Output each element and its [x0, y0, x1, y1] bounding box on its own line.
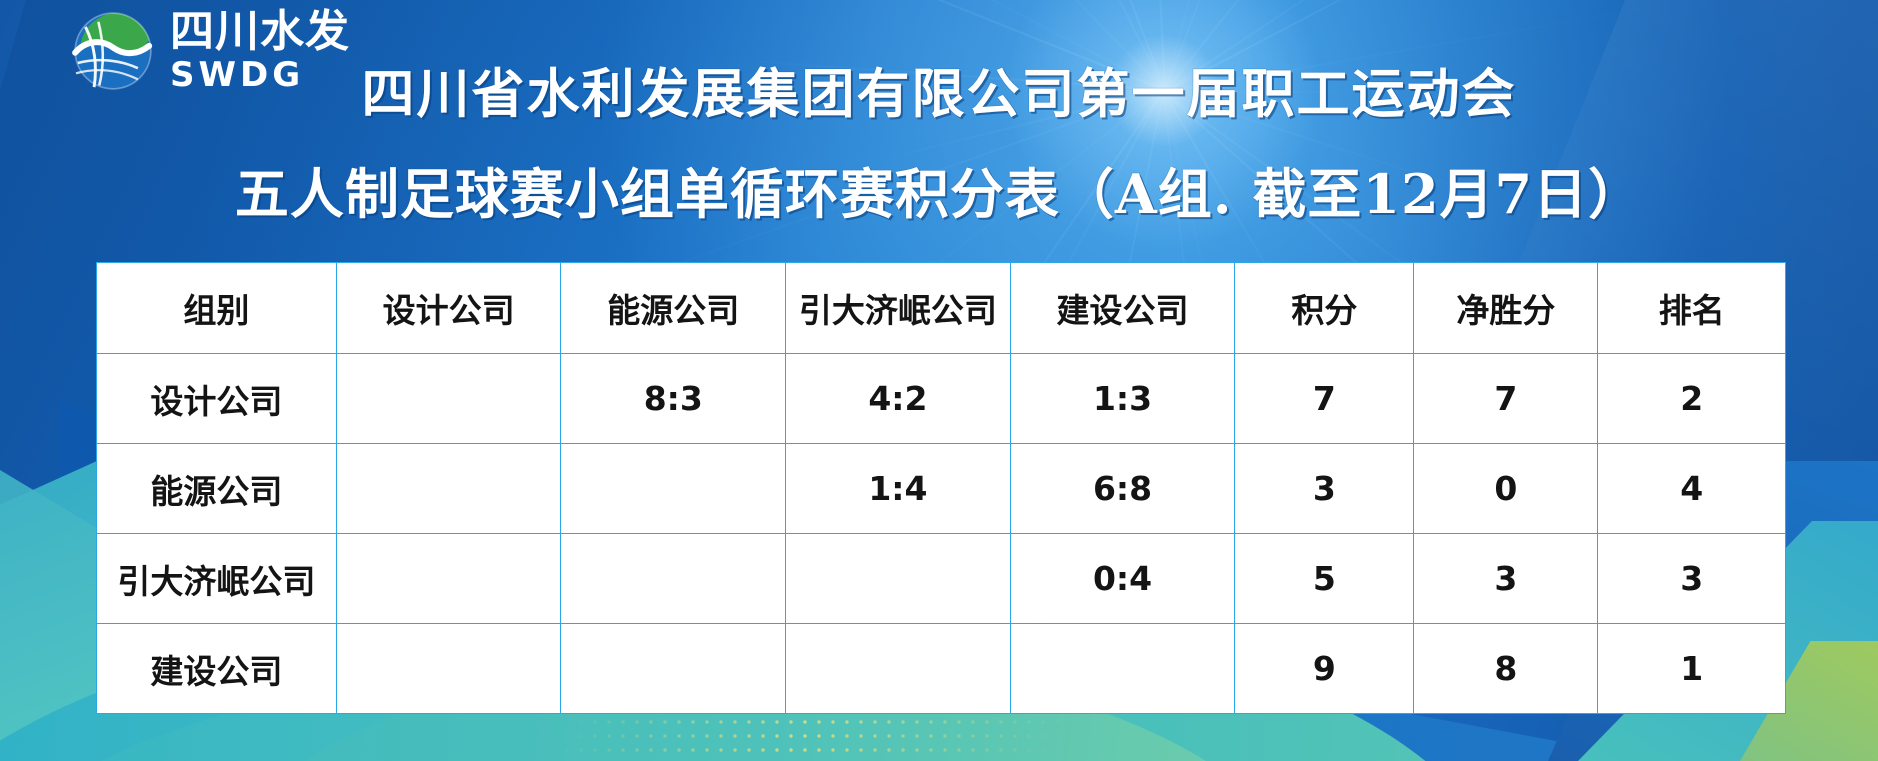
cell-vs-construction: 0:4	[1010, 534, 1235, 624]
cell-points: 9	[1235, 624, 1414, 714]
row-team-name: 设计公司	[97, 354, 337, 444]
cell-vs-construction	[1010, 624, 1235, 714]
cell-vs-yindajimin	[786, 624, 1011, 714]
cell-points: 7	[1235, 354, 1414, 444]
row-team-name: 引大济岷公司	[97, 534, 337, 624]
column-header-group: 组别	[97, 263, 337, 354]
poster-canvas: 四川水发 SWDG 四川省水利发展集团有限公司第一届职工运动会 五人制足球赛小组…	[0, 0, 1878, 761]
row-team-name: 能源公司	[97, 444, 337, 534]
cell-vs-energy	[561, 444, 786, 534]
cell-vs-design	[336, 354, 561, 444]
column-header-energy: 能源公司	[561, 263, 786, 354]
cell-vs-yindajimin: 1:4	[786, 444, 1011, 534]
cell-vs-energy	[561, 534, 786, 624]
page-title: 四川省水利发展集团有限公司第一届职工运动会	[0, 52, 1878, 128]
column-header-points: 积分	[1235, 263, 1414, 354]
cell-goal-diff: 0	[1414, 444, 1598, 534]
cell-rank: 3	[1598, 534, 1786, 624]
column-header-goaldiff: 净胜分	[1414, 263, 1598, 354]
row-team-name: 建设公司	[97, 624, 337, 714]
cell-rank: 4	[1598, 444, 1786, 534]
standings-table-container: 组别 设计公司 能源公司 引大济岷公司 建设公司 积分 净胜分 排名 设计公司 …	[96, 262, 1786, 700]
cell-vs-construction: 1:3	[1010, 354, 1235, 444]
page-subtitle: 五人制足球赛小组单循环赛积分表（A组. 截至12月7日）	[0, 150, 1878, 229]
column-header-rank: 排名	[1598, 263, 1786, 354]
cell-vs-energy	[561, 624, 786, 714]
cell-goal-diff: 3	[1414, 534, 1598, 624]
cell-vs-construction: 6:8	[1010, 444, 1235, 534]
table-header-row: 组别 设计公司 能源公司 引大济岷公司 建设公司 积分 净胜分 排名	[97, 263, 1786, 354]
column-header-construction: 建设公司	[1010, 263, 1235, 354]
poster-titles: 四川省水利发展集团有限公司第一届职工运动会 五人制足球赛小组单循环赛积分表（A组…	[0, 52, 1878, 229]
cell-vs-design	[336, 624, 561, 714]
table-row: 建设公司 9 8 1	[97, 624, 1786, 714]
cell-points: 3	[1235, 444, 1414, 534]
standings-table: 组别 设计公司 能源公司 引大济岷公司 建设公司 积分 净胜分 排名 设计公司 …	[96, 262, 1786, 714]
column-header-yindajimin: 引大济岷公司	[786, 263, 1011, 354]
cell-vs-yindajimin: 4:2	[786, 354, 1011, 444]
cell-goal-diff: 8	[1414, 624, 1598, 714]
cell-vs-design	[336, 444, 561, 534]
cell-vs-design	[336, 534, 561, 624]
cell-rank: 2	[1598, 354, 1786, 444]
cell-vs-yindajimin	[786, 534, 1011, 624]
cell-vs-energy: 8:3	[561, 354, 786, 444]
table-row: 引大济岷公司 0:4 5 3 3	[97, 534, 1786, 624]
table-row: 能源公司 1:4 6:8 3 0 4	[97, 444, 1786, 534]
column-header-design: 设计公司	[336, 263, 561, 354]
cell-rank: 1	[1598, 624, 1786, 714]
table-row: 设计公司 8:3 4:2 1:3 7 7 2	[97, 354, 1786, 444]
cell-goal-diff: 7	[1414, 354, 1598, 444]
brand-name-cn: 四川水发	[170, 10, 350, 54]
cell-points: 5	[1235, 534, 1414, 624]
